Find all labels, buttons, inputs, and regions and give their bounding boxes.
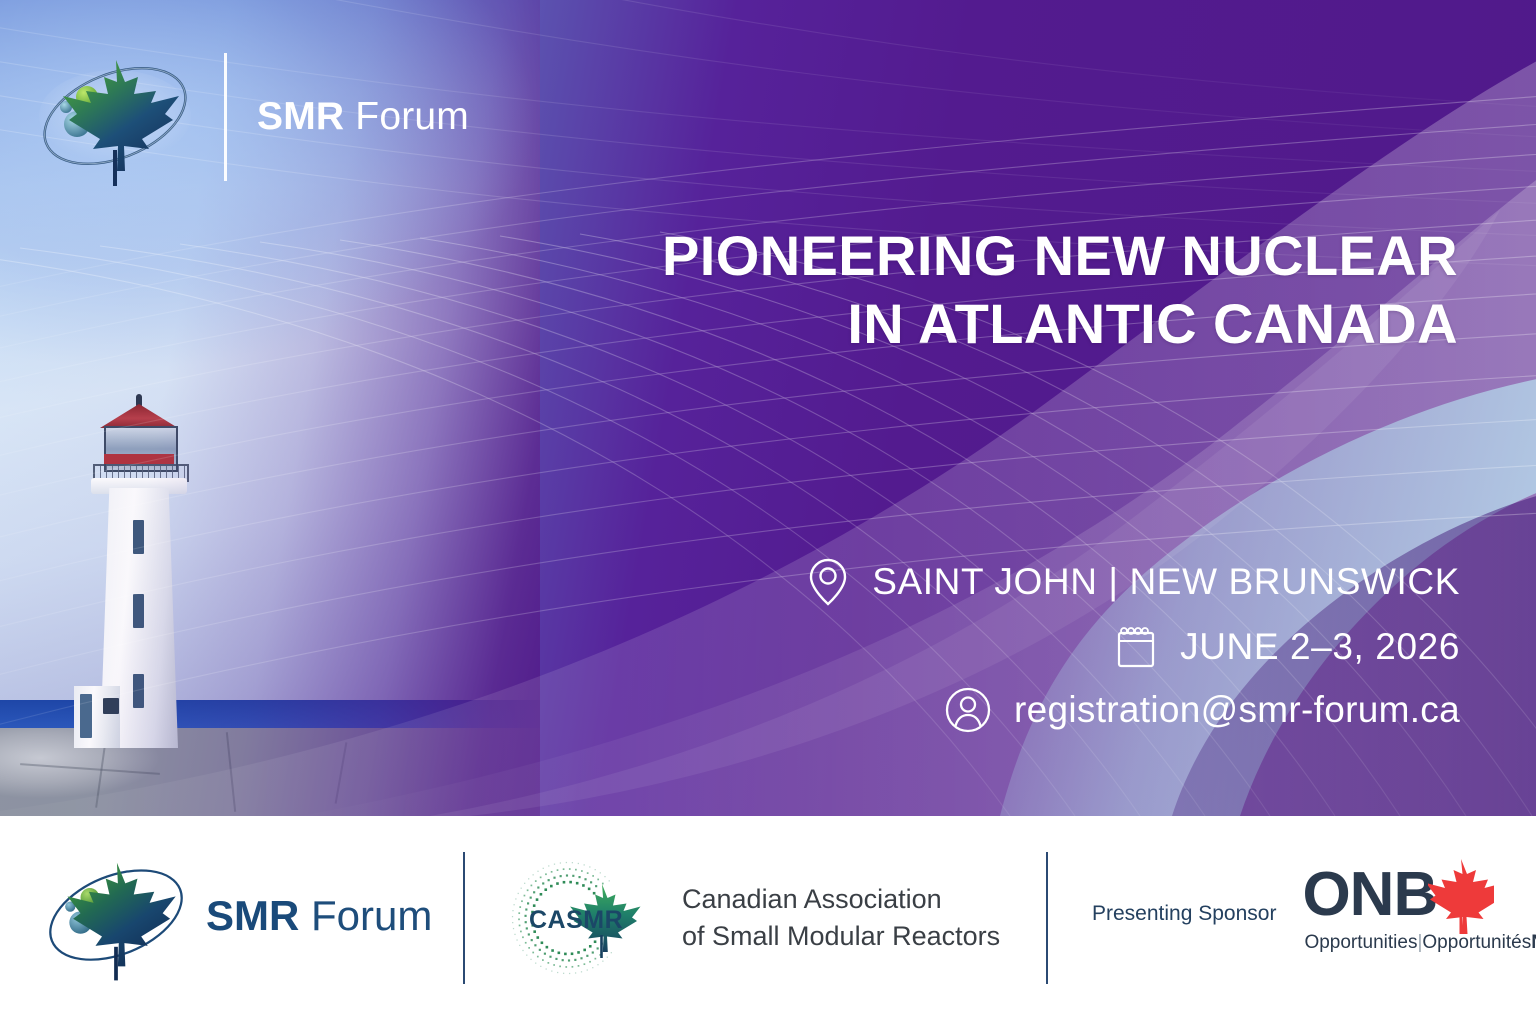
headline-line-1: PIONEERING NEW NUCLEAR xyxy=(662,222,1458,290)
brand-word-rest: Forum xyxy=(344,95,469,138)
event-location-row: SAINT JOHN | NEW BRUNSWICK xyxy=(806,556,1460,608)
event-registration-row[interactable]: registration@smr-forum.ca xyxy=(944,686,1460,734)
brand-lockup[interactable]: SMR Forum xyxy=(30,42,469,192)
onb-tagline-fr: Opportunités xyxy=(1422,932,1531,953)
headline-line-2: IN ATLANTIC CANADA xyxy=(662,290,1458,358)
event-registration-email[interactable]: registration@smr-forum.ca xyxy=(1014,689,1460,731)
event-promo-poster: SMR Forum PIONEERING NEW NUCLEAR IN ATLA… xyxy=(0,0,1536,1012)
smr-maple-leaf-atom-logo xyxy=(36,846,196,986)
presenting-sponsor-block[interactable]: Presenting Sponsor ONB Opportunities|Opp… xyxy=(1092,816,1498,1012)
presenting-sponsor-label: Presenting Sponsor xyxy=(1092,902,1276,926)
casmr-name-line-1: Canadian Association xyxy=(682,881,1000,918)
event-date-text: JUNE 2–3, 2026 xyxy=(1180,626,1460,668)
hero-banner: SMR Forum PIONEERING NEW NUCLEAR IN ATLA… xyxy=(0,0,1536,816)
footer-logo-bar: SMR Forum CASMR xyxy=(0,816,1536,1012)
brand-divider xyxy=(224,53,227,181)
footer-smr-forum-lockup[interactable]: SMR Forum xyxy=(36,846,432,986)
casmr-association-name: Canadian Association of Small Modular Re… xyxy=(682,881,1000,956)
onb-tagline: Opportunities|OpportunitésNB xyxy=(1304,932,1536,954)
brand-word-bold: SMR xyxy=(257,95,344,138)
footer-divider-1 xyxy=(463,852,465,984)
casmr-name-line-2: of Small Modular Reactors xyxy=(682,918,1000,955)
casmr-dotted-circle-maple-leaf-logo: CASMR xyxy=(506,858,656,978)
footer-smr-word-bold: SMR xyxy=(206,892,299,939)
location-pin-icon xyxy=(806,556,850,608)
onb-maple-leaf-logo: ONB Opportunities|OpportunitésNB xyxy=(1298,862,1498,966)
onb-red-maple-leaf-icon xyxy=(1428,856,1494,934)
page-title: PIONEERING NEW NUCLEAR IN ATLANTIC CANAD… xyxy=(662,222,1458,359)
onb-wordmark: ONB xyxy=(1302,862,1437,928)
brand-wordmark: SMR Forum xyxy=(257,95,469,139)
user-circle-icon xyxy=(944,686,992,734)
footer-smr-word-rest: Forum xyxy=(299,892,432,939)
calendar-icon xyxy=(1114,622,1158,672)
smr-maple-leaf-atom-logo xyxy=(30,42,200,192)
footer-smr-wordmark: SMR Forum xyxy=(206,892,432,940)
event-details: SAINT JOHN | NEW BRUNSWICK JUNE 2–3, 202… xyxy=(806,556,1460,734)
footer-casmr-lockup[interactable]: CASMR Canadian Association of Small Modu… xyxy=(506,858,1000,978)
onb-tagline-nb: NB xyxy=(1531,932,1536,953)
footer-divider-2 xyxy=(1046,852,1048,984)
event-date-row: JUNE 2–3, 2026 xyxy=(1114,622,1460,672)
onb-tagline-en: Opportunities xyxy=(1304,932,1417,953)
event-location-text: SAINT JOHN | NEW BRUNSWICK xyxy=(872,561,1460,603)
onb-wordmark-row: ONB xyxy=(1298,862,1498,928)
svg-text:CASMR: CASMR xyxy=(529,906,623,934)
